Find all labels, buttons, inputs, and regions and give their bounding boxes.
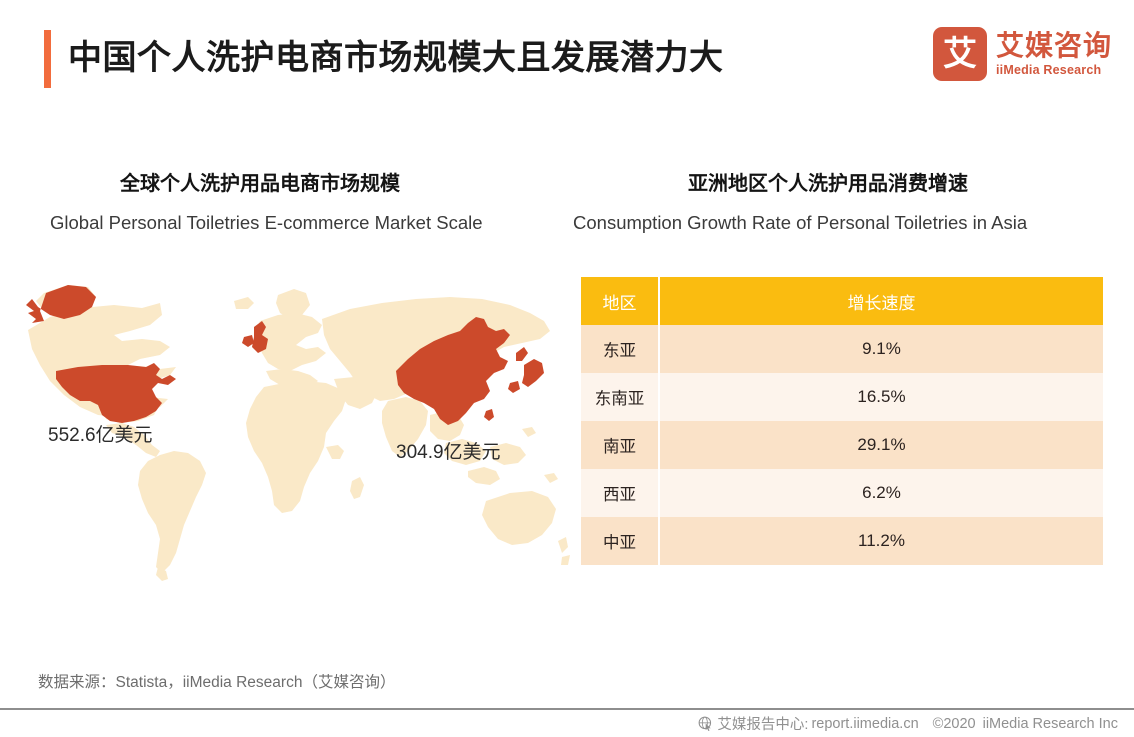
- table-body: 东亚 9.1% 东南亚 16.5% 南亚 29.1% 西亚 6.2% 中亚 11…: [581, 325, 1103, 565]
- map-region-taiwan: [484, 409, 494, 421]
- iimedia-logo: 艾 艾媒咨询 iiMedia Research: [933, 26, 1112, 82]
- logo-text: 艾媒咨询 iiMedia Research: [996, 31, 1112, 78]
- map-region-japan-main: [522, 359, 544, 387]
- slide-canvas: 中国个人洗护电商市场规模大且发展潜力大 艾 艾媒咨询 iiMedia Resea…: [0, 0, 1134, 737]
- globe-cursor-icon: [698, 716, 713, 731]
- data-source-note: 数据来源：Statista，iiMedia Research（艾媒咨询）: [38, 670, 395, 692]
- table-header-row: 地区 增长速度: [581, 277, 1103, 325]
- map-label-us: 552.6亿美元: [48, 420, 153, 447]
- footer-url[interactable]: report.iimedia.cn: [811, 716, 918, 732]
- cell-growth: 29.1%: [659, 421, 1103, 469]
- map-region-japan-south: [508, 381, 520, 393]
- map-region-japan: [516, 347, 528, 361]
- footer-copyright: ©2020: [933, 716, 976, 732]
- cell-growth: 9.1%: [659, 325, 1103, 373]
- cell-region: 东亚: [581, 325, 659, 373]
- table-row: 东亚 9.1%: [581, 325, 1103, 373]
- cell-region: 西亚: [581, 469, 659, 517]
- cell-region: 东南亚: [581, 373, 659, 421]
- slide-header: 中国个人洗护电商市场规模大且发展潜力大 艾 艾媒咨询 iiMedia Resea…: [0, 0, 1134, 104]
- table-row: 东南亚 16.5%: [581, 373, 1103, 421]
- table-header: 地区 增长速度: [581, 277, 1103, 325]
- logo-mark-icon: 艾: [933, 27, 987, 81]
- logo-name-en: iiMedia Research: [996, 62, 1112, 78]
- cell-region: 南亚: [581, 421, 659, 469]
- map-region-usa: [56, 363, 176, 423]
- column-header-growth: 增长速度: [659, 277, 1103, 325]
- title-accent-bar: [44, 30, 51, 88]
- growth-rate-table: 地区 增长速度 东亚 9.1% 东南亚 16.5% 南亚 29.1% 西亚 6.…: [581, 277, 1103, 565]
- logo-name-cn: 艾媒咨询: [996, 31, 1112, 61]
- cell-growth: 11.2%: [659, 517, 1103, 565]
- footer-report-center-label: 艾媒报告中心:: [717, 713, 808, 734]
- cell-region: 中亚: [581, 517, 659, 565]
- table-row: 中亚 11.2%: [581, 517, 1103, 565]
- map-label-asia: 304.9亿美元: [396, 437, 501, 464]
- table-row: 西亚 6.2%: [581, 469, 1103, 517]
- right-panel-title-cn: 亚洲地区个人洗护用品消费增速: [688, 167, 968, 196]
- left-panel-title-cn: 全球个人洗护用品电商市场规模: [120, 167, 400, 196]
- left-panel-title-en: Global Personal Toiletries E-commerce Ma…: [50, 212, 483, 234]
- footer-bar: 艾媒报告中心: report.iimedia.cn ©2020 iiMedia …: [0, 710, 1134, 737]
- right-panel-title-en: Consumption Growth Rate of Personal Toil…: [573, 212, 1027, 234]
- footer-company: iiMedia Research Inc: [983, 716, 1118, 732]
- cell-growth: 16.5%: [659, 373, 1103, 421]
- table-row: 南亚 29.1%: [581, 421, 1103, 469]
- page-title: 中国个人洗护电商市场规模大且发展潜力大: [68, 32, 724, 84]
- cell-growth: 6.2%: [659, 469, 1103, 517]
- column-header-region: 地区: [581, 277, 659, 325]
- map-region-ireland: [242, 335, 254, 347]
